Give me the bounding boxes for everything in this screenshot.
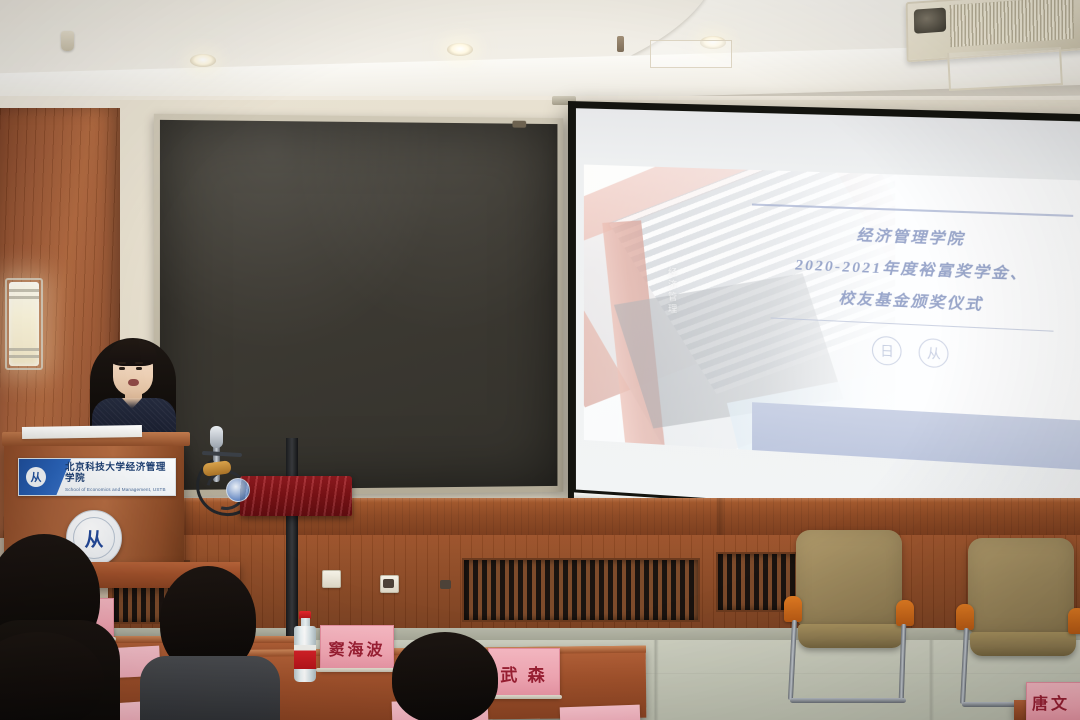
speaker-eyebrow	[118, 362, 126, 364]
wall-outlet	[322, 570, 341, 588]
lectern-speech-papers	[22, 425, 142, 439]
projection-screen: 经济管理 经济管理学院 2020-2021年度裕富奖学金、 校友基金颁奖仪式 日…	[568, 101, 1080, 537]
chair-armrest	[896, 600, 914, 626]
chair-seat	[798, 624, 904, 648]
sconce-bars	[9, 282, 39, 366]
ac-grille	[950, 0, 1074, 47]
ustb-badge-icon: 从	[26, 467, 46, 487]
name-card-stand	[316, 668, 396, 672]
lectern-nameplate: 从 北京科技大学经济管理学院 School of Economics and M…	[18, 458, 176, 496]
name-card: 窦海波	[320, 625, 394, 671]
lectern-nameplate-cn: 北京科技大学经济管理学院	[65, 463, 171, 485]
speaker-eye	[136, 367, 142, 370]
chair-backrest	[796, 530, 902, 626]
ceiling-downlight	[190, 54, 216, 67]
speaker-mouth	[128, 379, 139, 386]
bottle-label	[294, 645, 316, 669]
lectern-nameplate-text: 北京科技大学经济管理学院 School of Economics and Man…	[65, 463, 171, 492]
ac-diffuser-frame	[947, 47, 1063, 91]
slide-title-line-1: 经济管理学院	[752, 219, 1074, 253]
wall-sconce-light	[9, 282, 39, 366]
ac-return-vent-icon	[914, 7, 946, 33]
wall-outlet	[380, 575, 399, 593]
ceiling-access-panel	[650, 40, 732, 68]
pink-paper-sheet	[560, 705, 641, 720]
chair-seat	[970, 632, 1076, 656]
chair-backrest	[968, 538, 1074, 634]
chair-base-rail	[790, 698, 906, 703]
slide-title-line-3: 校友基金颁奖仪式	[752, 282, 1074, 318]
name-card: 唐文	[1026, 682, 1080, 720]
projection-screen-surface: 经济管理 经济管理学院 2020-2021年度裕富奖学金、 校友基金颁奖仪式 日…	[576, 108, 1080, 523]
speaker-fringe	[109, 340, 157, 366]
wall-data-port	[440, 580, 451, 589]
slide-text-block: 经济管理学院 2020-2021年度裕富奖学金、 校友基金颁奖仪式 日 从	[752, 203, 1074, 374]
slide-school-logo-icon: 从	[919, 337, 949, 368]
microphone-head-icon	[210, 426, 223, 448]
slide-bottom-rule	[771, 317, 1054, 331]
slide-university-logo-icon: 日	[872, 335, 902, 365]
chair-armrest	[1068, 608, 1080, 634]
name-card-label: 唐文	[1032, 690, 1070, 714]
name-card-label: 窦海波	[328, 636, 385, 660]
award-medal-display	[226, 478, 250, 502]
audience-torso	[140, 656, 280, 720]
sprinkler-head-icon	[61, 31, 74, 51]
ceiling-hook	[617, 36, 624, 52]
audience-head	[392, 632, 498, 720]
name-card: 武 森	[488, 648, 560, 698]
wall-vent-grille	[462, 558, 700, 622]
wall-outlet-socket	[383, 579, 394, 588]
lectern-nameplate-en: School of Economics and Management, USTB	[65, 487, 171, 492]
red-velvet-draped-table	[240, 476, 352, 516]
speaker-eyebrow	[135, 362, 143, 364]
chair-armrest	[956, 604, 974, 630]
slide-title-line-2: 2020-2021年度裕富奖学金、	[752, 251, 1074, 286]
presentation-slide: 经济管理 经济管理学院 2020-2021年度裕富奖学金、 校友基金颁奖仪式 日…	[584, 165, 1080, 471]
chair-armrest	[784, 596, 802, 622]
blackboard-clip	[512, 121, 526, 128]
ceiling-downlight	[447, 43, 473, 56]
speaker-eye	[119, 367, 125, 370]
name-card-label: 武 森	[500, 661, 547, 686]
photo-scene: 经济管理 经济管理学院 2020-2021年度裕富奖学金、 校友基金颁奖仪式 日…	[0, 0, 1080, 720]
